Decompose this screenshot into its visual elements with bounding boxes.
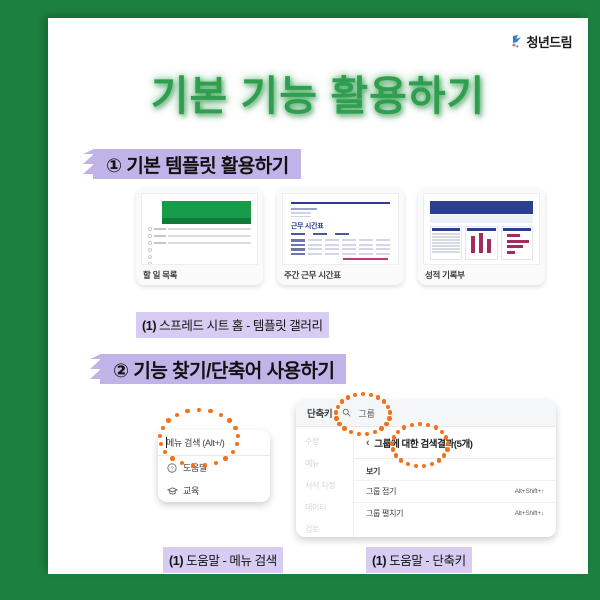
section-1-heading: ① 기본 템플릿 활용하기 (93, 149, 301, 179)
section-2-caption-right: (1) 도움말 - 단축키 (366, 547, 472, 573)
shortcut-row[interactable]: 그룹 접기 Alt+Shift+↑ (354, 480, 556, 502)
timesheet-template-thumbnail: 근무 시간표 (282, 193, 399, 265)
menu-item-training[interactable]: 교육 (158, 479, 270, 502)
shortcut-label: 그룹 펼치기 (366, 508, 403, 519)
timesheet-inner-title: 근무 시간표 (291, 221, 398, 231)
section-2-heading: ② 기능 찾기/단축어 사용하기 (100, 354, 346, 384)
template-card[interactable]: 할 일 목록 (136, 188, 263, 285)
sidebar-item-menu[interactable]: 메뉴 (305, 458, 353, 469)
template-card-label: 주간 근무 시간표 (277, 265, 404, 285)
menu-search-popup: 메뉴 검색 (Alt+/) ? 도움말 교육 (158, 430, 270, 502)
shortcut-panel: 단축키 그룹 수정 메뉴 서식 지정 데이터 검토 ‹ 그룹에 대한 검색결과(… (296, 400, 556, 537)
menu-item-help[interactable]: ? 도움말 (158, 456, 270, 479)
section-1-caption: (1) 스프레드 시트 홈 - 템플릿 갤러리 (136, 312, 329, 338)
caption-index: (1) (142, 319, 156, 333)
shortcut-sidebar: 수정 메뉴 서식 지정 데이터 검토 (296, 427, 354, 537)
menu-search-input[interactable]: 메뉴 검색 (Alt+/) (158, 430, 270, 456)
caption-index: (1) (372, 554, 386, 568)
caption-text: 도움말 - 단축키 (389, 554, 466, 568)
sidebar-item-edit[interactable]: 수정 (305, 436, 353, 447)
search-result-header: ‹ 그룹에 대한 검색결과(5개) (354, 427, 556, 459)
template-card-row: 할 일 목록 근무 시간표 주간 근무 시간표 (136, 188, 545, 285)
template-card[interactable]: 근무 시간표 주간 근무 시간표 (277, 188, 404, 285)
graduation-cap-icon (167, 486, 177, 496)
caption-text: 도움말 - 메뉴 검색 (186, 554, 277, 568)
shortcut-row[interactable]: 그룹 펼치기 Alt+Shift+↓ (354, 502, 556, 524)
poster-page: 청년드림 기본 기능 활용하기 ① 기본 템플릿 활용하기 (48, 18, 588, 574)
brand-logo: 청년드림 (512, 32, 572, 51)
menu-search-placeholder: 메뉴 검색 (Alt+/) (166, 436, 224, 449)
tab-shortcuts[interactable]: 단축키 (307, 406, 332, 420)
search-icon (342, 408, 351, 419)
search-result-text: 그룹에 대한 검색결과(5개) (374, 436, 472, 450)
menu-item-label: 교육 (183, 484, 199, 497)
sidebar-item-data[interactable]: 데이터 (305, 502, 353, 513)
brand-name: 청년드림 (527, 32, 572, 51)
shortcut-panel-tabbar: 단축키 그룹 (296, 400, 556, 427)
menu-item-label: 도움말 (183, 461, 207, 474)
kb-star-icon (512, 34, 525, 49)
page-title: 기본 기능 활용하기 (48, 62, 588, 122)
help-circle-icon: ? (167, 463, 177, 473)
template-card-label: 성적 기록부 (418, 265, 545, 285)
shortcut-search-value: 그룹 (358, 407, 375, 420)
shortcut-search[interactable]: 그룹 (342, 407, 375, 420)
template-card-label: 할 일 목록 (136, 265, 263, 285)
sidebar-item-format[interactable]: 서식 지정 (305, 480, 353, 491)
shortcut-keys: Alt+Shift+↑ (515, 488, 544, 495)
chevron-left-icon[interactable]: ‹ (366, 437, 369, 449)
gradebook-template-thumbnail (423, 193, 540, 265)
text-caret (166, 437, 167, 448)
caption-text: 스프레드 시트 홈 - 템플릿 갤러리 (159, 319, 322, 333)
shortcut-group-label: 보기 (354, 459, 556, 480)
template-card[interactable]: 성적 기록부 (418, 188, 545, 285)
todo-list-template-thumbnail (141, 193, 258, 265)
shortcut-keys: Alt+Shift+↓ (515, 510, 544, 517)
shortcut-label: 그룹 접기 (366, 486, 396, 497)
shortcut-results: ‹ 그룹에 대한 검색결과(5개) 보기 그룹 접기 Alt+Shift+↑ 그… (354, 427, 556, 537)
caption-index: (1) (169, 554, 183, 568)
sidebar-item-review[interactable]: 검토 (305, 524, 353, 535)
section-2-caption-left: (1) 도움말 - 메뉴 검색 (163, 547, 283, 573)
